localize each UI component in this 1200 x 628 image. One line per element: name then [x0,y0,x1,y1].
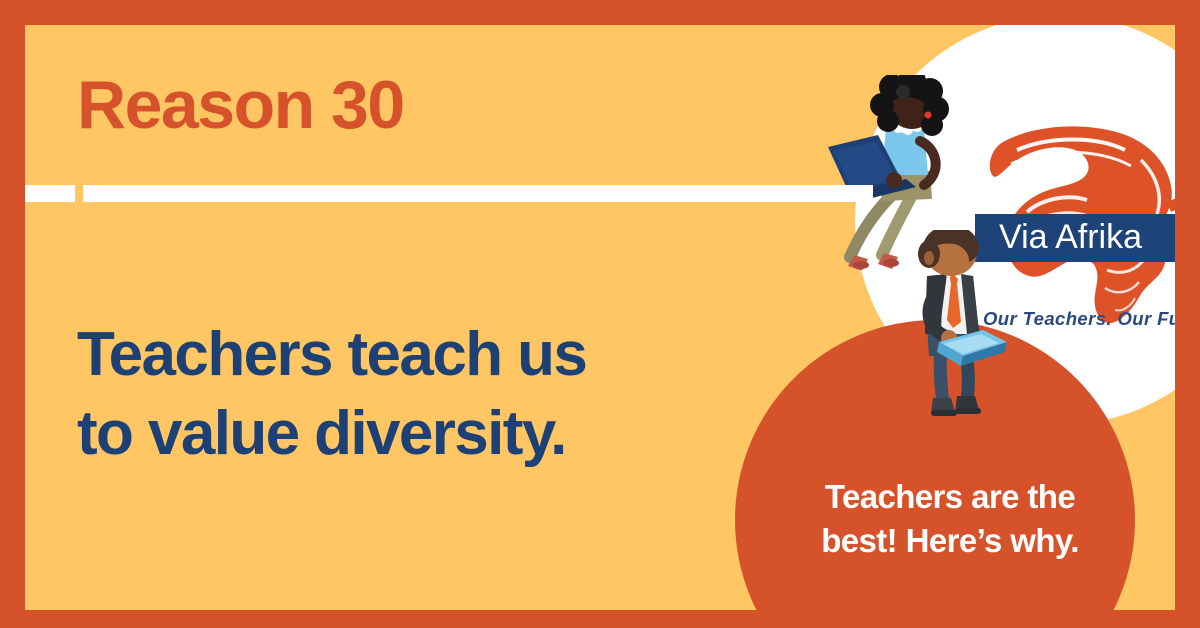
logo-tagline: Our Teachers. Our Future. [983,308,1175,330]
cta-line-2: best! Here’s why. [785,519,1115,563]
divider-rule [83,185,873,202]
social-graphic-canvas: Via Afrika [0,0,1200,628]
cta-line-1: Teachers are the [785,475,1115,519]
headline-line-1: Teachers teach us [77,315,727,394]
divider-rule-stub [25,185,75,202]
reason-eyebrow: Reason 30 [77,70,404,141]
cta-text: Teachers are the best! Here’s why. [785,475,1115,562]
inner-yellow-panel: Via Afrika [25,25,1175,610]
headline-line-2: to value diversity. [77,394,727,473]
headline: Teachers teach us to value diversity. [77,315,727,474]
